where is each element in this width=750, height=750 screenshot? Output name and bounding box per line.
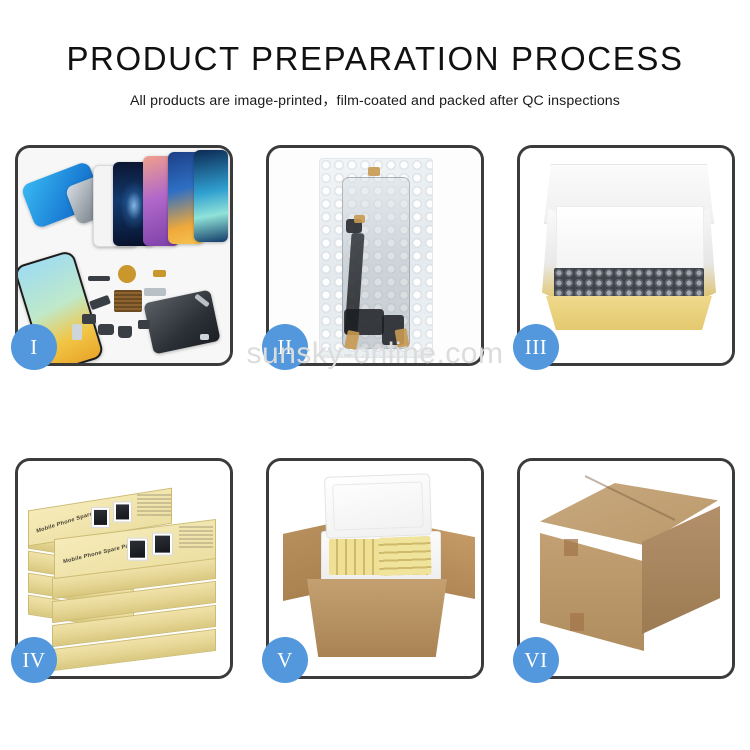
step-badge-1: I: [11, 324, 57, 370]
product-preparation-infographic: PRODUCT PREPARATION PROCESS All products…: [0, 0, 750, 750]
step-badge-6: VI: [513, 637, 559, 683]
teal-display-phone: [194, 150, 228, 242]
component-chip: [88, 276, 110, 281]
vibrator-motor: [98, 324, 114, 335]
step-badge-5: V: [262, 637, 308, 683]
flex-cable-part: [89, 295, 111, 310]
box-feature-lines: [137, 494, 171, 516]
mesh-board: [114, 290, 142, 312]
carton-front-face: [540, 533, 644, 651]
carton-tape-upper: [564, 539, 578, 556]
process-step-1[interactable]: I: [15, 145, 233, 366]
tape-top: [368, 167, 380, 176]
process-step-3[interactable]: III: [517, 145, 735, 366]
gold-connector: [153, 270, 166, 277]
step-badge-2: II: [262, 324, 308, 370]
box-stack: Mobile Phone Spare Parts Mobile Phone Sp…: [24, 479, 230, 665]
box-feature-lines: [179, 527, 213, 549]
process-grid: I II: [15, 145, 735, 685]
bubble-wrap-bag: [319, 158, 433, 358]
process-step-2[interactable]: II: [266, 145, 484, 366]
process-step-4[interactable]: Mobile Phone Spare Parts Mobile Phone Sp…: [15, 458, 233, 679]
box-screen-print: [113, 501, 132, 522]
white-foam-sheet: [556, 206, 704, 272]
gray-bubble-wrap: [554, 268, 704, 298]
metal-bracket: [144, 288, 166, 296]
small-screw: [200, 334, 209, 340]
camera-module: [82, 314, 96, 324]
retail-box-title: Mobile Phone Spare Parts: [63, 541, 137, 565]
earpiece-part: [118, 326, 132, 338]
speaker-coil: [118, 265, 136, 283]
tape-mid: [354, 215, 365, 223]
box-screen-print: [152, 533, 173, 556]
step-badge-3: III: [513, 324, 559, 370]
step-badge-4: IV: [11, 637, 57, 683]
box-screen-print: [127, 538, 148, 561]
page-title: PRODUCT PREPARATION PROCESS: [0, 0, 750, 77]
page-subtitle: All products are image-printed，film-coat…: [0, 77, 750, 110]
phone-back-housing: [143, 289, 220, 354]
process-step-6[interactable]: VI: [517, 458, 735, 679]
carton-tape-lower: [570, 613, 584, 631]
mailer-front-panel: [546, 296, 712, 330]
header: PRODUCT PREPARATION PROCESS All products…: [0, 0, 750, 110]
battery-part: [72, 324, 82, 340]
foam-cooler-lid: [324, 473, 432, 539]
process-step-5[interactable]: V: [266, 458, 484, 679]
sim-tray: [138, 320, 150, 329]
box-screen-print: [91, 507, 110, 528]
packed-yellow-boxes-secondary: [378, 536, 431, 576]
carton-body: [307, 579, 447, 657]
